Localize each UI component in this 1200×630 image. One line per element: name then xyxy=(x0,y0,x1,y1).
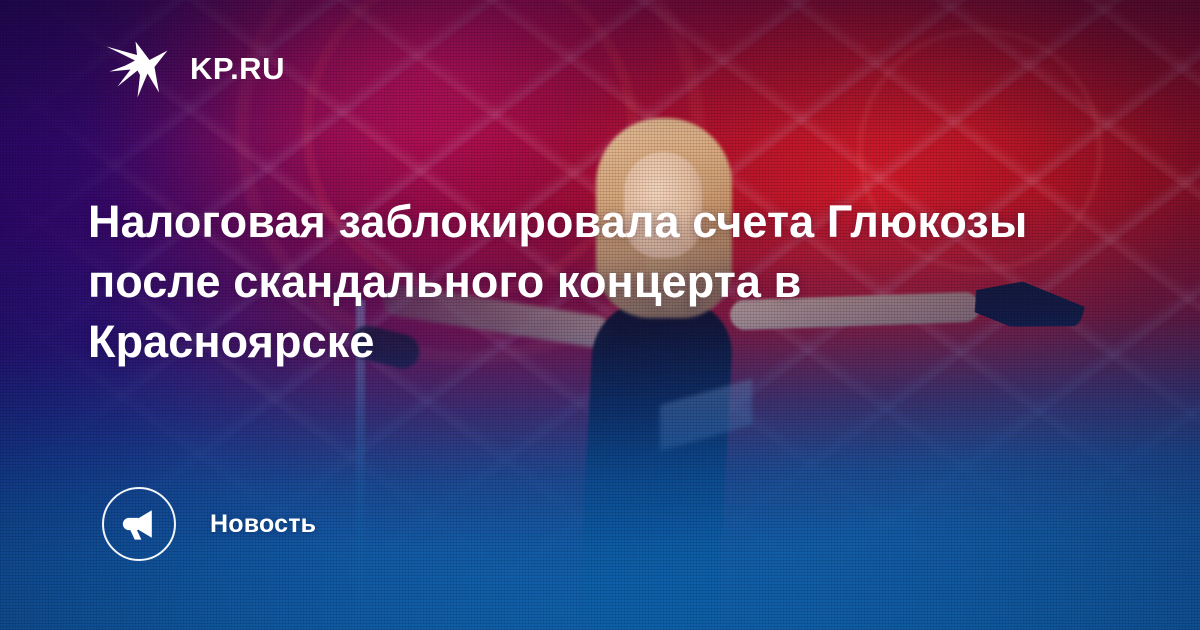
brand-lockup[interactable]: KP.RU xyxy=(104,34,285,102)
kp-ru-news-card: KP.RU Налоговая заблокировала счета Глюк… xyxy=(0,0,1200,630)
brand-name: KP.RU xyxy=(190,53,285,84)
page-title: Налоговая заблокировала счета Глюкозы по… xyxy=(88,192,1028,372)
megaphone-icon xyxy=(120,505,158,543)
label-badge xyxy=(102,487,176,561)
card-content: KP.RU Налоговая заблокировала счета Глюк… xyxy=(0,0,1200,630)
swallow-bird-icon xyxy=(104,34,170,102)
content-type-label[interactable]: Новость xyxy=(102,487,316,561)
label-text: Новость xyxy=(210,510,316,539)
